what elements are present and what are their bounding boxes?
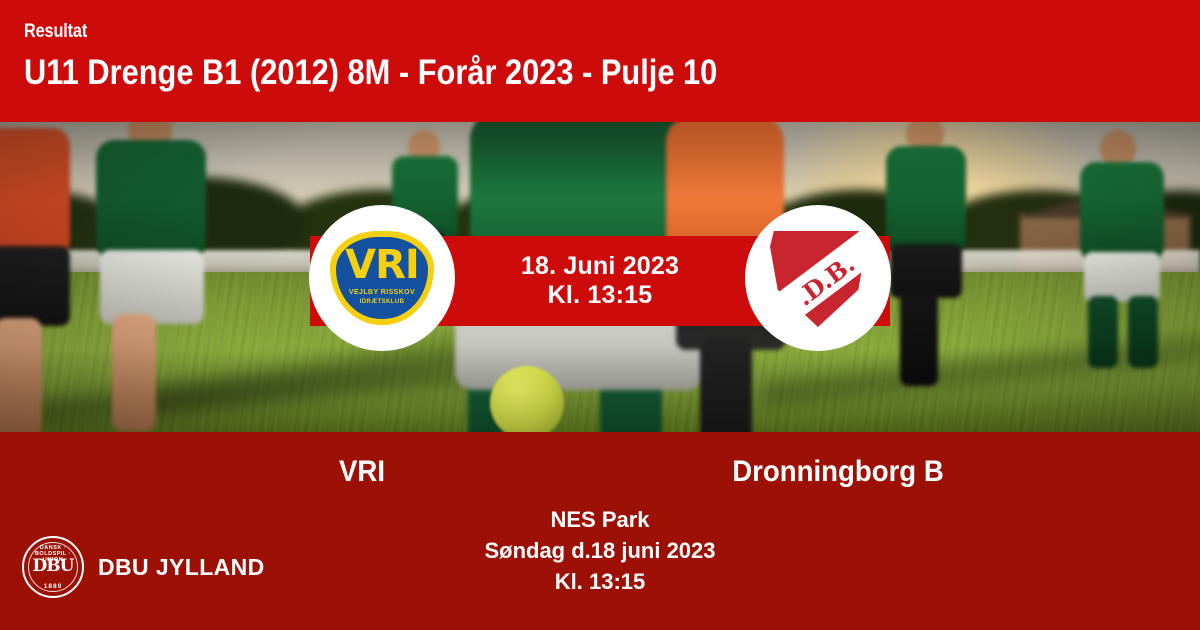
dbu-name: DBU JYLLAND: [98, 554, 265, 581]
home-team-logo: VRI VEJLBY RISSKOV IDRÆTSKLUB: [309, 205, 455, 351]
vri-letters: VRI: [330, 245, 434, 285]
header-kicker: Resultat: [24, 22, 1035, 41]
dbu-year: 1889: [24, 583, 82, 590]
db-shield-icon: .D.B.: [770, 229, 866, 327]
away-team-logo: .D.B.: [745, 205, 891, 351]
match-date-band-text: 18. Juni 2023 Kl. 13:15: [0, 236, 1200, 326]
away-team-name: Dronningborg B: [505, 448, 1171, 496]
dbu-logo-icon: DANSK · BOLDSPIL · UNION DBU 1889: [22, 536, 84, 598]
dbu-arc-text: DANSK · BOLDSPIL · UNION: [24, 545, 82, 563]
vri-subtitle-line1: VEJLBY RISSKOV: [330, 289, 434, 296]
match-result-poster: Resultat U11 Drenge B1 (2012) 8M - Forår…: [0, 0, 1200, 630]
page-title: U11 Drenge B1 (2012) 8M - Forår 2023 - P…: [24, 55, 1059, 90]
venue-name: NES Park: [0, 504, 1200, 535]
teams-row: VRI Dronningborg B: [0, 448, 1200, 498]
vri-shield-icon: VRI VEJLBY RISSKOV IDRÆTSKLUB: [330, 231, 434, 325]
vri-subtitle-line2: IDRÆTSKLUB: [330, 299, 434, 305]
match-time: Kl. 13:15: [548, 281, 653, 310]
poster-footer: VRI Dronningborg B NES Park Søndag d.18 …: [0, 432, 1200, 630]
match-date: 18. Juni 2023: [521, 252, 679, 281]
dbu-branding: DANSK · BOLDSPIL · UNION DBU 1889 DBU JY…: [22, 536, 265, 598]
poster-header: Resultat U11 Drenge B1 (2012) 8M - Forår…: [0, 0, 1200, 122]
